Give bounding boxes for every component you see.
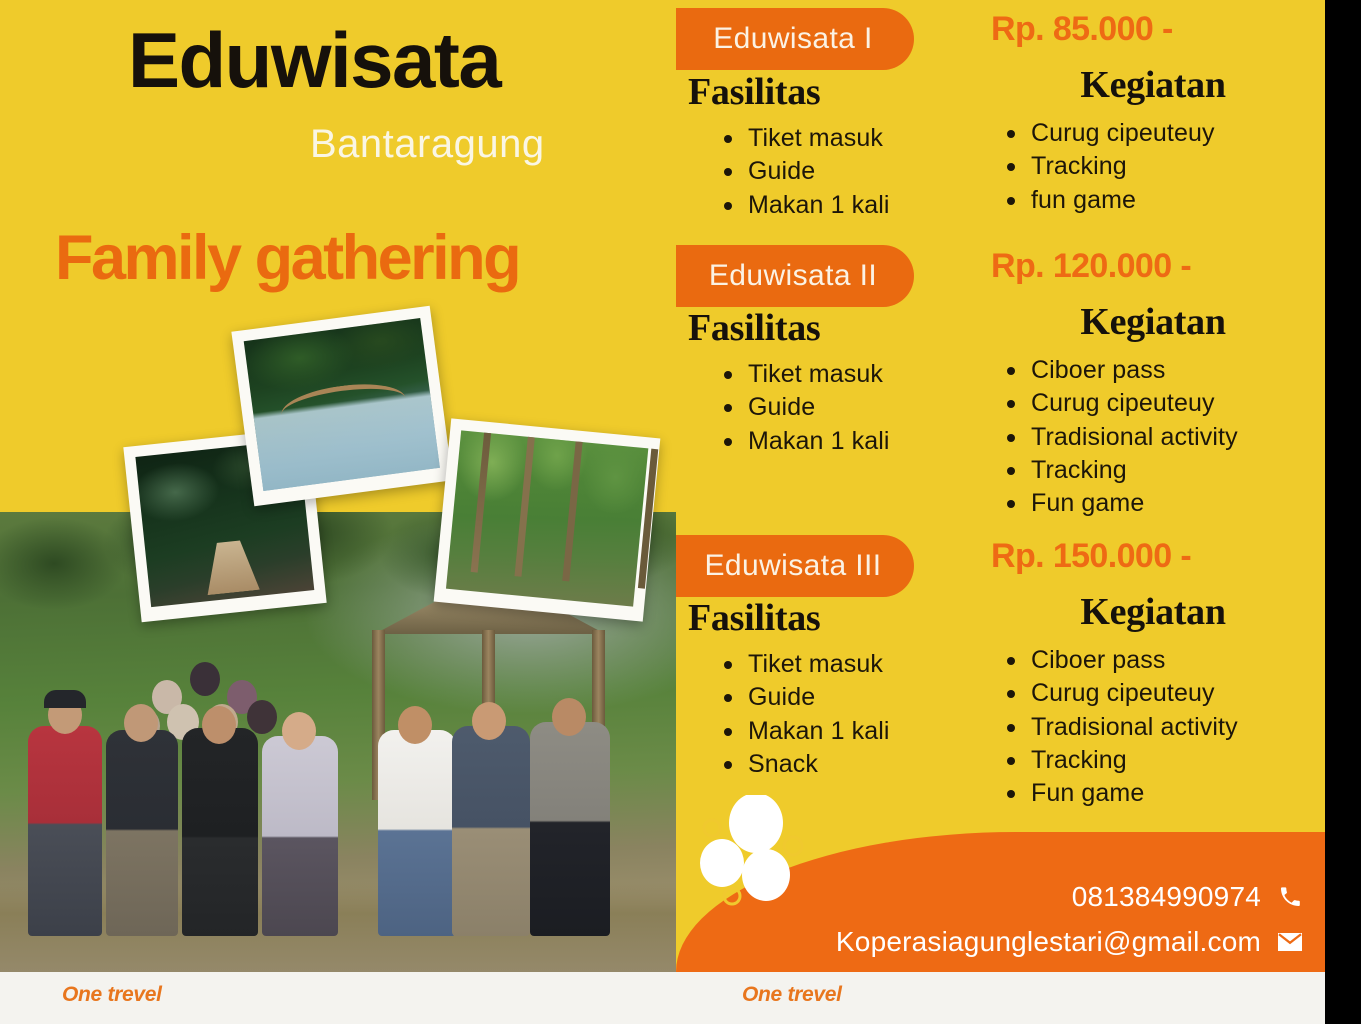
facilities-column-3: Fasilitas Tiket masuk Guide Makan 1 kali… — [688, 596, 988, 781]
list-item: fun game — [1005, 184, 1325, 217]
activities-heading: Kegiatan — [981, 300, 1325, 344]
right-column: Eduwisata I Fasilitas Tiket masuk Guide … — [676, 0, 1325, 972]
activities-column-1: Rp. 85.000 - Kegiatan Curug cipeuteuy Tr… — [981, 10, 1325, 217]
activities-column-3: Rp. 150.000 - Kegiatan Ciboer pass Curug… — [981, 537, 1325, 810]
decorative-blobs — [694, 795, 834, 915]
list-item: Tracking — [1005, 744, 1325, 777]
facilities-heading: Fasilitas — [688, 596, 988, 640]
person-head — [552, 698, 586, 736]
package-badge-1[interactable]: Eduwisata I — [676, 8, 914, 70]
list-item: Fun game — [1005, 487, 1325, 520]
list-item: Tradisional activity — [1005, 421, 1325, 454]
polaroid-forest-deck — [434, 418, 661, 621]
package-badge-2[interactable]: Eduwisata II — [676, 245, 914, 307]
package-badge-label: Eduwisata I — [707, 22, 872, 56]
facilities-heading: Fasilitas — [688, 306, 988, 350]
facilities-list-2: Tiket masuk Guide Makan 1 kali — [722, 358, 988, 458]
activities-list-2: Ciboer pass Curug cipeuteuy Tradisional … — [1005, 354, 1325, 520]
activities-list-1: Curug cipeuteuy Tracking fun game — [1005, 117, 1325, 217]
person-figure — [28, 726, 102, 936]
person-head — [202, 706, 236, 744]
facilities-column-2: Fasilitas Tiket masuk Guide Makan 1 kali — [688, 306, 988, 458]
person-figure — [262, 736, 338, 936]
page-subtitle: Bantaragung — [310, 122, 545, 167]
list-item: Tiket masuk — [722, 648, 988, 681]
page-title: Eduwisata — [128, 20, 500, 102]
person-figure — [182, 728, 258, 936]
package-badge-label: Eduwisata III — [699, 549, 882, 583]
left-column: Eduwisata Bantaragung Family gathering — [0, 0, 676, 972]
person-figure — [530, 722, 610, 936]
bottom-brand-strip: One trevel One trevel — [0, 972, 1325, 1024]
package-badge-3[interactable]: Eduwisata III — [676, 535, 914, 597]
list-item: Makan 1 kali — [722, 425, 988, 458]
contact-email-text: Koperasiagunglestari@gmail.com — [836, 926, 1261, 958]
brand-right: One trevel — [742, 983, 842, 1007]
list-item: Tradisional activity — [1005, 711, 1325, 744]
person-head — [190, 662, 220, 696]
package-price-1: Rp. 85.000 - — [991, 10, 1325, 49]
facilities-list-1: Tiket masuk Guide Makan 1 kali — [722, 122, 988, 222]
activities-column-2: Rp. 120.000 - Kegiatan Ciboer pass Curug… — [981, 247, 1325, 520]
person-figure — [106, 730, 178, 936]
list-item: Ciboer pass — [1005, 354, 1325, 387]
list-item: Guide — [722, 391, 988, 424]
list-item: Ciboer pass — [1005, 644, 1325, 677]
person-head — [398, 706, 432, 744]
activities-heading: Kegiatan — [981, 63, 1325, 107]
list-item: Tracking — [1005, 150, 1325, 183]
poster-canvas: Eduwisata Bantaragung Family gathering — [0, 0, 1325, 1024]
photo-forest-deck — [446, 430, 648, 606]
person-head — [247, 700, 277, 734]
envelope-icon — [1277, 929, 1303, 955]
right-gutter — [1325, 0, 1361, 1024]
list-item: Snack — [722, 748, 988, 781]
person-head — [124, 704, 158, 742]
contact-phone-text: 081384990974 — [1072, 881, 1261, 913]
person-head — [472, 702, 506, 740]
contact-email-row[interactable]: Koperasiagunglestari@gmail.com — [836, 926, 1303, 958]
package-price-3: Rp. 150.000 - — [991, 537, 1325, 576]
package-price-2: Rp. 120.000 - — [991, 247, 1325, 286]
contact-phone-row[interactable]: 081384990974 — [1072, 881, 1303, 913]
list-item: Tiket masuk — [722, 358, 988, 391]
person-head — [282, 712, 316, 750]
activities-list-3: Ciboer pass Curug cipeuteuy Tradisional … — [1005, 644, 1325, 810]
package-badge-label: Eduwisata II — [703, 259, 877, 293]
list-item: Curug cipeuteuy — [1005, 677, 1325, 710]
person-cap — [44, 690, 86, 708]
activities-heading: Kegiatan — [981, 590, 1325, 634]
facilities-list-3: Tiket masuk Guide Makan 1 kali Snack — [722, 648, 988, 781]
brand-left: One trevel — [62, 983, 162, 1007]
facilities-heading: Fasilitas — [688, 70, 988, 114]
list-item: Tracking — [1005, 454, 1325, 487]
list-item: Fun game — [1005, 777, 1325, 810]
person-figure — [378, 730, 456, 936]
list-item: Guide — [722, 155, 988, 188]
list-item: Curug cipeuteuy — [1005, 117, 1325, 150]
tagline: Family gathering — [55, 222, 519, 294]
facilities-column-1: Fasilitas Tiket masuk Guide Makan 1 kali — [688, 70, 988, 222]
photo-waterfall-bridge — [244, 318, 440, 491]
list-item: Guide — [722, 681, 988, 714]
phone-icon — [1277, 884, 1303, 910]
person-figure — [452, 726, 530, 936]
list-item: Tiket masuk — [722, 122, 988, 155]
list-item: Curug cipeuteuy — [1005, 387, 1325, 420]
list-item: Makan 1 kali — [722, 715, 988, 748]
polaroid-waterfall-bridge — [231, 306, 452, 507]
list-item: Makan 1 kali — [722, 189, 988, 222]
